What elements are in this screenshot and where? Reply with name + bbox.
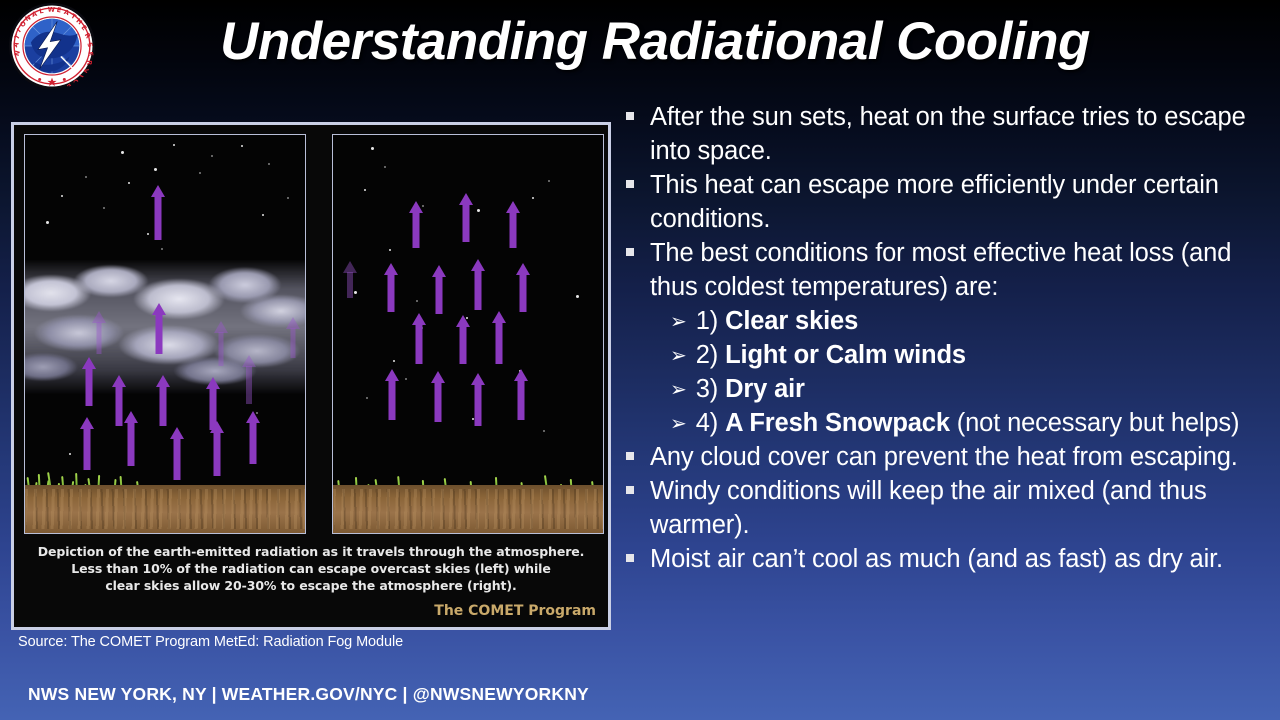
radiation-figure: Depiction of the earth-emitted radiation…: [11, 122, 611, 630]
svg-text:R: R: [85, 60, 93, 65]
panel-clear-sky: [332, 134, 604, 534]
sub-bullet-text: 3) Dry air: [696, 372, 1268, 406]
square-bullet-icon: [626, 112, 634, 120]
chevron-arrow-icon: ➢: [670, 372, 687, 406]
sub-bullet-number: 3): [696, 375, 718, 403]
comet-program-credit: The COMET Program: [434, 603, 596, 619]
slide-root: N A T I O N A L W E A T H E R S E R V I: [0, 0, 1280, 720]
sub-bullet-bold: Clear skies: [725, 307, 858, 335]
sub-bullet-item: ➢ 2) Light or Calm winds: [626, 338, 1268, 372]
bullet-item: The best conditions for most effective h…: [626, 236, 1268, 304]
bullet-text: Windy conditions will keep the air mixed…: [650, 474, 1268, 542]
footer-contact-line: NWS NEW YORK, NY | WEATHER.GOV/NYC | @NW…: [28, 684, 589, 705]
sub-bullet-item: ➢ 3) Dry air: [626, 372, 1268, 406]
square-bullet-icon: [626, 248, 634, 256]
bullet-item: This heat can escape more efficiently un…: [626, 168, 1268, 236]
bullet-text: Moist air can’t cool as much (and as fas…: [650, 542, 1268, 576]
square-bullet-icon: [626, 554, 634, 562]
square-bullet-icon: [626, 486, 634, 494]
figure-panels: [24, 134, 604, 534]
bullet-text: The best conditions for most effective h…: [650, 236, 1268, 304]
sub-bullet-item: ➢ 1) Clear skies: [626, 304, 1268, 338]
sub-bullet-text: 4) A Fresh Snowpack (not necessary but h…: [696, 406, 1268, 440]
chevron-arrow-icon: ➢: [670, 304, 687, 338]
caption-line-3: clear skies allow 20-30% to escape the a…: [14, 577, 608, 594]
ground-clear: [333, 485, 603, 533]
caption-line-2: Less than 10% of the radiation can escap…: [14, 560, 608, 577]
nws-logo-icon: N A T I O N A L W E A T H E R S E R V I: [8, 2, 96, 90]
bullet-item: Windy conditions will keep the air mixed…: [626, 474, 1268, 542]
svg-text:W: W: [48, 6, 55, 14]
figure-caption: Depiction of the earth-emitted radiation…: [14, 543, 608, 594]
sub-bullet-bold: Dry air: [725, 375, 805, 403]
square-bullet-icon: [626, 180, 634, 188]
sub-bullet-rest: (not necessary but helps): [950, 409, 1240, 437]
caption-line-1: Depiction of the earth-emitted radiation…: [14, 543, 608, 560]
square-bullet-icon: [626, 452, 634, 460]
bullet-item: Moist air can’t cool as much (and as fas…: [626, 542, 1268, 576]
bullet-text: This heat can escape more efficiently un…: [650, 168, 1268, 236]
bullet-text: Any cloud cover can prevent the heat fro…: [650, 440, 1268, 474]
chevron-arrow-icon: ➢: [670, 406, 687, 440]
panel-overcast-sky: [24, 134, 306, 534]
ground-overcast: [25, 485, 305, 533]
figure-source-line: Source: The COMET Program MetEd: Radiati…: [18, 634, 403, 650]
bullet-list: After the sun sets, heat on the surface …: [626, 100, 1268, 576]
bullet-text: After the sun sets, heat on the surface …: [650, 100, 1268, 168]
sub-bullet-number: 2): [696, 341, 718, 369]
sub-bullet-number: 1): [696, 307, 718, 335]
sub-bullet-bold: Light or Calm winds: [725, 341, 966, 369]
sub-bullet-number: 4): [696, 409, 718, 437]
slide-header: N A T I O N A L W E A T H E R S E R V I: [0, 0, 1280, 95]
sub-bullet-text: 1) Clear skies: [696, 304, 1268, 338]
page-title: Understanding Radiational Cooling: [120, 8, 1190, 76]
sub-bullet-bold: A Fresh Snowpack: [725, 409, 950, 437]
sub-bullet-text: 2) Light or Calm winds: [696, 338, 1268, 372]
sub-bullet-item: ➢ 4) A Fresh Snowpack (not necessary but…: [626, 406, 1268, 440]
chevron-arrow-icon: ➢: [670, 338, 687, 372]
bullet-item: Any cloud cover can prevent the heat fro…: [626, 440, 1268, 474]
bullet-item: After the sun sets, heat on the surface …: [626, 100, 1268, 168]
